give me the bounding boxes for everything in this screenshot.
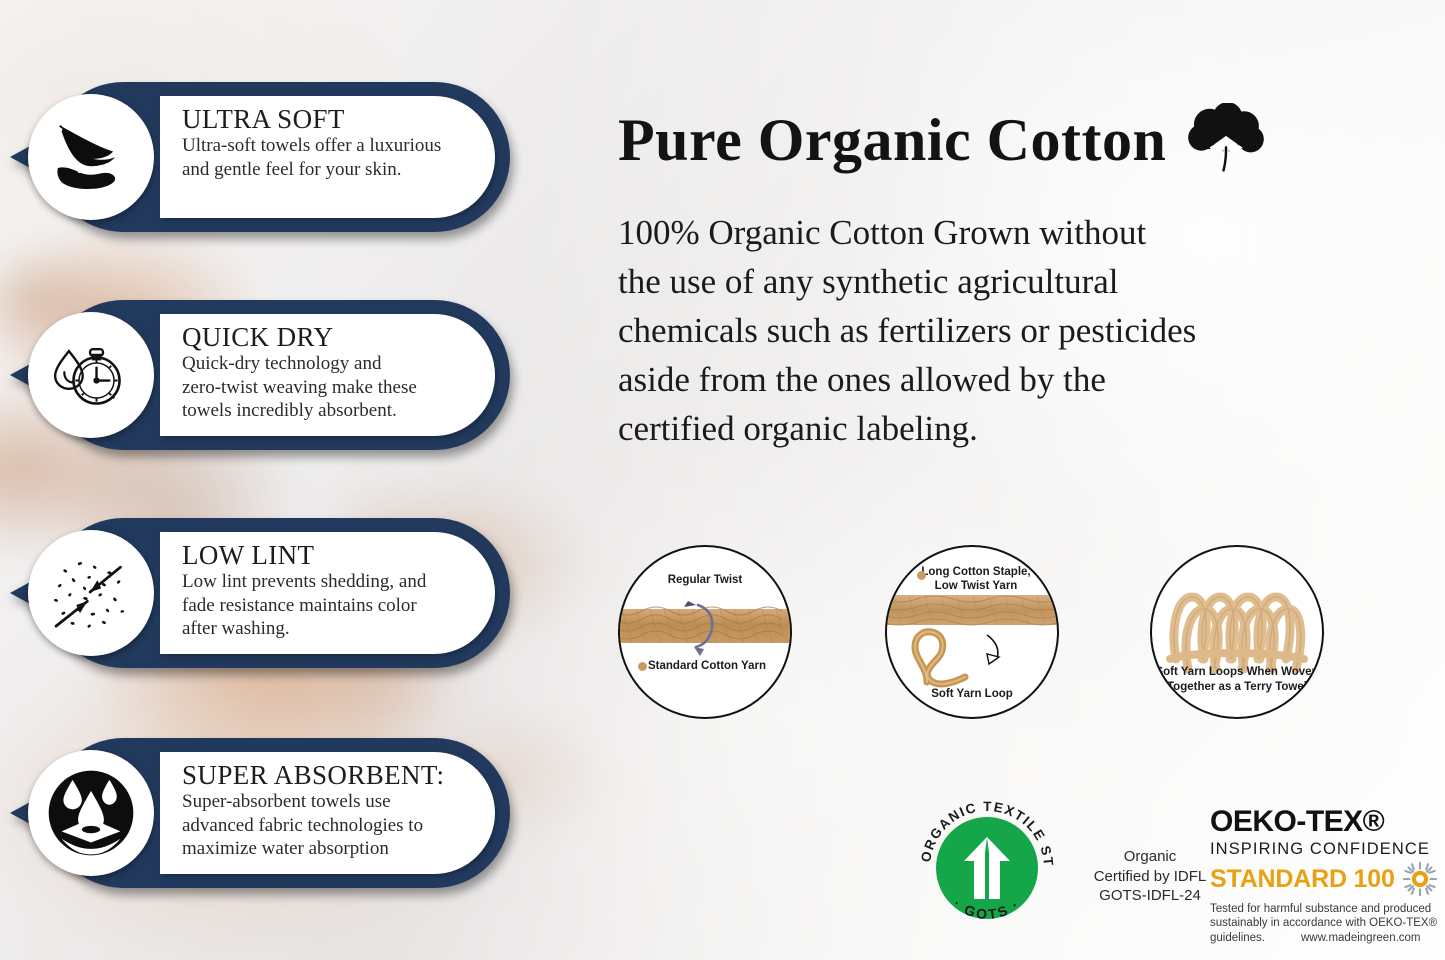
oeko-tex-fine-print: Tested for harmful substance and produce… <box>1210 902 1440 945</box>
oeko-fine-line2: sustainably in accordance with OEKO-TEX® <box>1210 917 1437 929</box>
headline-row: Pure Organic Cotton <box>618 103 1268 177</box>
right-content-column: Pure Organic Cotton 100% Orga <box>612 0 1445 960</box>
oeko-tex-subtitle: INSPIRING CONFIDENCE <box>1210 840 1440 858</box>
oeko-tex-standard: STANDARD 100 <box>1210 867 1395 892</box>
badge-text-card: LOW LINT Low lint prevents shedding, and… <box>160 532 495 654</box>
feature-desc-line: fade resistance maintains color <box>182 594 473 617</box>
oeko-tex-standard-row: STANDARD 100 <box>1210 860 1440 898</box>
twisted-yarn-strand-graphic <box>620 547 790 717</box>
feature-icon-circle <box>28 530 154 656</box>
yarn-diagram-terry-loops: Soft Yarn Loops When Woven Together as a… <box>1150 545 1324 719</box>
infographic-canvas: ULTRA SOFT Ultra-soft towels offer a lux… <box>0 0 1445 960</box>
feature-desc-line: Quick-dry technology and <box>182 352 473 375</box>
gots-caption-line: Certified by IDFL <box>1080 867 1220 887</box>
feature-badge-list: ULTRA SOFT Ultra-soft towels offer a lux… <box>0 0 600 960</box>
oeko-tex-title: OEKO-TEX® <box>1210 807 1440 837</box>
body-copy-line: 100% Organic Cotton Grown without <box>618 208 1418 257</box>
body-copy: 100% Organic Cotton Grown without the us… <box>618 208 1418 453</box>
feature-desc-line: zero-twist weaving make these <box>182 376 473 399</box>
droplet-stopwatch-icon <box>45 329 137 421</box>
yarn-bottom-label-line1: Soft Yarn Loops When Woven <box>1152 665 1322 679</box>
yarn-diagram-low-twist: Long Cotton Staple, Low Twist Yarn <box>885 545 1059 719</box>
yarn-bottom-label-line2: Together as a Terry Towel <box>1152 680 1322 694</box>
yarn-bottom-label: Soft Yarn Loop <box>887 687 1057 701</box>
hand-holding-feather-icon <box>45 111 137 203</box>
water-droplets-fabric-icon <box>45 767 137 859</box>
feature-badge-low-lint[interactable]: LOW LINT Low lint prevents shedding, and… <box>10 518 510 668</box>
feature-title: ULTRA SOFT <box>182 105 473 133</box>
feature-title: SUPER ABSORBENT: <box>182 761 473 789</box>
feature-title: LOW LINT <box>182 541 473 569</box>
oeko-tex-url[interactable]: www.madeingreen.com <box>1301 932 1421 944</box>
feature-icon-circle <box>28 312 154 438</box>
page-title: Pure Organic Cotton <box>618 110 1166 170</box>
yarn-diagram-regular-twist: Regular Twist <box>618 545 792 719</box>
feature-badge-quick-dry[interactable]: QUICK DRY Quick-dry technology and zero-… <box>10 300 510 450</box>
feature-badge-ultra-soft[interactable]: ULTRA SOFT Ultra-soft towels offer a lux… <box>10 82 510 232</box>
body-copy-line: aside from the ones allowed by the <box>618 355 1418 404</box>
badge-text-card: ULTRA SOFT Ultra-soft towels offer a lux… <box>160 96 495 218</box>
feature-desc-line: Low lint prevents shedding, and <box>182 570 473 593</box>
cotton-boll-icon <box>1184 103 1268 177</box>
body-copy-line: chemicals such as fertilizers or pestici… <box>618 306 1418 355</box>
feature-desc-line: after washing. <box>182 617 473 640</box>
oeko-fine-line1: Tested for harmful substance and produce… <box>1210 903 1431 915</box>
feature-icon-circle <box>28 94 154 220</box>
feature-desc-line: and gentle feel for your skin. <box>182 158 473 181</box>
feature-desc-line: maximize water absorption <box>182 837 473 860</box>
badge-text-card: QUICK DRY Quick-dry technology and zero-… <box>160 314 495 436</box>
yarn-legend-dot <box>638 662 647 671</box>
certification-row: GLOBAL ORGANIC TEXTILE STANDARD · GOTS ·… <box>612 785 1445 960</box>
badge-text-card: SUPER ABSORBENT: Super-absorbent towels … <box>160 752 495 874</box>
gots-caption-line: GOTS-IDFL-24 <box>1080 886 1220 906</box>
gots-caption: Organic Certified by IDFL GOTS-IDFL-24 <box>1080 847 1220 906</box>
yarn-diagram-row: Regular Twist <box>612 545 1445 720</box>
gots-caption-line: Organic <box>1080 847 1220 867</box>
feature-icon-circle <box>28 750 154 876</box>
feature-title: QUICK DRY <box>182 323 473 351</box>
feature-desc-line: towels incredibly absorbent. <box>182 399 473 422</box>
feature-desc-line: Ultra-soft towels offer a luxurious <box>182 134 473 157</box>
body-copy-line: the use of any synthetic agricultural <box>618 257 1418 306</box>
oeko-tex-logo-block: OEKO-TEX® INSPIRING CONFIDENCE STANDARD … <box>1210 807 1440 945</box>
body-copy-line: certified organic labeling. <box>618 404 1418 453</box>
made-in-green-sunburst-icon <box>1401 860 1439 898</box>
yarn-bottom-label: Standard Cotton Yarn <box>648 659 788 673</box>
feature-badge-super-absorbent[interactable]: SUPER ABSORBENT: Super-absorbent towels … <box>10 738 510 888</box>
lint-particles-arrows-icon <box>45 547 137 639</box>
feature-desc-line: advanced fabric technologies to <box>182 814 473 837</box>
oeko-fine-line3: guidelines. <box>1210 932 1265 944</box>
gots-logo: GLOBAL ORGANIC TEXTILE STANDARD · GOTS · <box>912 793 1062 943</box>
feature-desc-line: Super-absorbent towels use <box>182 790 473 813</box>
